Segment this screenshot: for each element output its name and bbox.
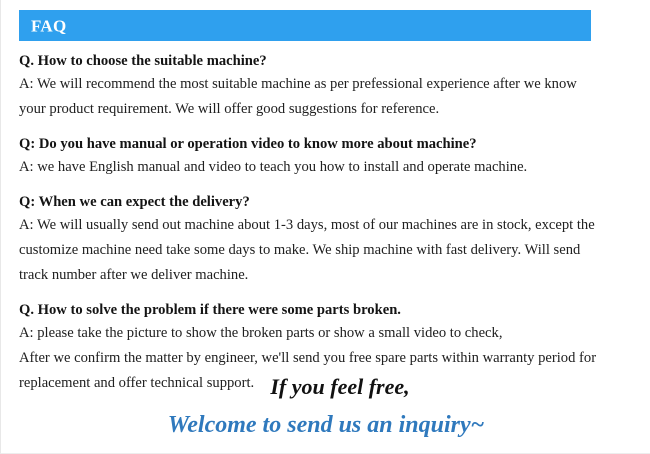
faq-question: Q: When we can expect the delivery?: [19, 191, 619, 213]
faq-item: Q: Do you have manual or operation video…: [19, 133, 619, 180]
faq-item: Q. How to choose the suitable machine? A…: [19, 50, 619, 122]
faq-item: Q: When we can expect the delivery? A: W…: [19, 191, 619, 288]
closing-block: If you feel free, Welcome to send us an …: [1, 372, 650, 442]
closing-line-primary: If you feel free,: [1, 372, 650, 402]
faq-question: Q: Do you have manual or operation video…: [19, 133, 619, 155]
faq-header-title: FAQ: [31, 17, 67, 34]
faq-header-bar: FAQ: [19, 10, 591, 41]
faq-answer: A: We will usually send out machine abou…: [19, 213, 601, 288]
faq-answer: A: we have English manual and video to t…: [19, 155, 601, 180]
faq-content: Q. How to choose the suitable machine? A…: [19, 50, 619, 407]
closing-line-inquiry: Welcome to send us an inquiry~: [1, 402, 650, 442]
faq-answer: A: We will recommend the most suitable m…: [19, 72, 601, 122]
faq-question: Q. How to solve the problem if there wer…: [19, 299, 619, 321]
faq-page: FAQ Q. How to choose the suitable machin…: [0, 0, 650, 454]
faq-question: Q. How to choose the suitable machine?: [19, 50, 619, 72]
faq-answer: A: please take the picture to show the b…: [19, 321, 601, 346]
